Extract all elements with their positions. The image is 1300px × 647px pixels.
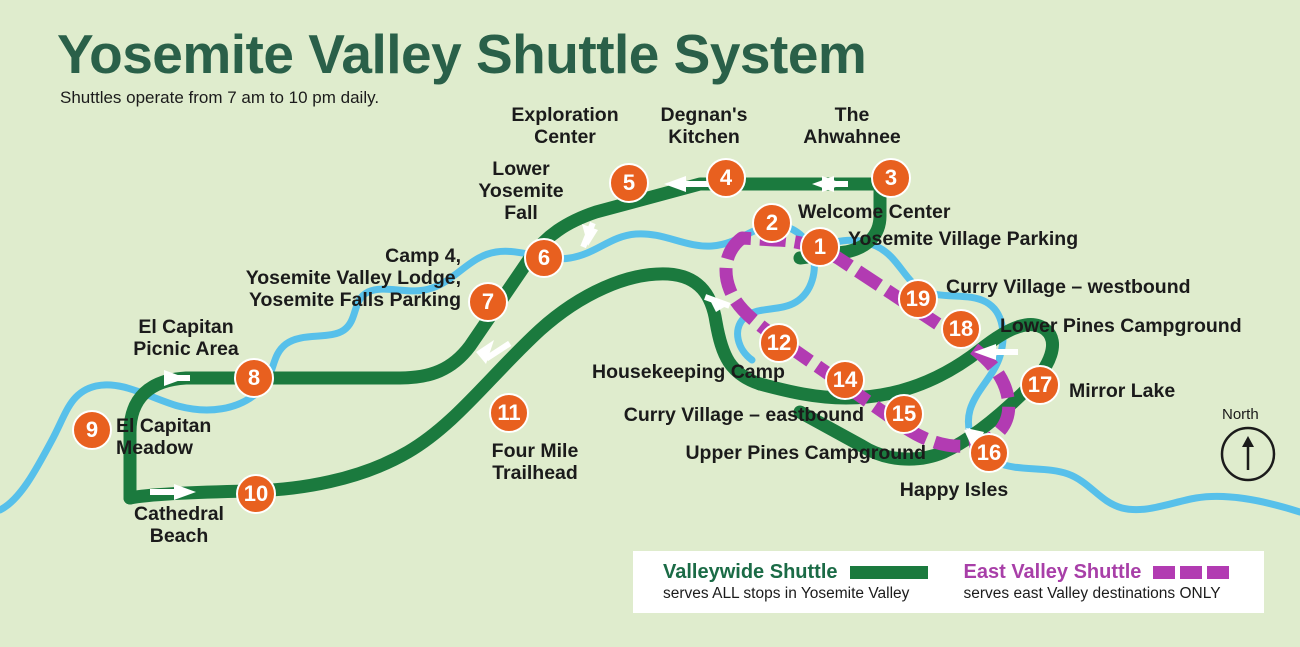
- stop-label-3: The Ahwahnee: [790, 105, 914, 149]
- stop-label-19: Curry Village – westbound: [946, 277, 1191, 299]
- stop-marker-12[interactable]: 12: [759, 323, 799, 363]
- stop-marker-3[interactable]: 3: [871, 158, 911, 198]
- stop-marker-2[interactable]: 2: [752, 203, 792, 243]
- map-legend: Valleywide Shuttle serves ALL stops in Y…: [633, 551, 1264, 613]
- stop-label-18: Lower Pines Campground: [1000, 316, 1242, 338]
- legend-east-valley-swatch: [1153, 566, 1229, 579]
- stop-marker-14[interactable]: 14: [825, 360, 865, 400]
- stop-label-8: El Capitan Picnic Area: [106, 317, 266, 361]
- stop-marker-16[interactable]: 16: [969, 433, 1009, 473]
- stop-label-17: Mirror Lake: [1069, 381, 1175, 403]
- stop-marker-9[interactable]: 9: [72, 410, 112, 450]
- stop-label-16: Happy Isles: [881, 480, 1027, 502]
- legend-valleywide-subtitle: serves ALL stops in Yosemite Valley: [663, 585, 928, 603]
- stop-marker-6[interactable]: 6: [524, 238, 564, 278]
- stop-label-14: Curry Village – eastbound: [588, 405, 864, 427]
- compass-label: North: [1222, 406, 1259, 423]
- legend-valleywide: Valleywide Shuttle serves ALL stops in Y…: [663, 561, 928, 603]
- stop-marker-17[interactable]: 17: [1020, 365, 1060, 405]
- stop-marker-11[interactable]: 11: [489, 393, 529, 433]
- stop-label-9: El Capitan Meadow: [116, 416, 211, 460]
- shuttle-map: Yosemite Valley Shuttle System Shuttles …: [0, 0, 1300, 647]
- stop-marker-5[interactable]: 5: [609, 163, 649, 203]
- stop-label-6: Lower Yosemite Fall: [462, 159, 580, 224]
- stop-label-4: Degnan's Kitchen: [645, 105, 763, 149]
- legend-valleywide-swatch: [850, 566, 928, 579]
- stop-label-10: Cathedral Beach: [114, 504, 244, 548]
- stop-marker-8[interactable]: 8: [234, 358, 274, 398]
- stop-label-7: Camp 4, Yosemite Valley Lodge, Yosemite …: [215, 246, 461, 311]
- legend-east-valley-subtitle: serves east Valley destinations ONLY: [964, 585, 1230, 603]
- page-title: Yosemite Valley Shuttle System: [57, 22, 866, 86]
- stop-marker-4[interactable]: 4: [706, 158, 746, 198]
- page-subtitle: Shuttles operate from 7 am to 10 pm dail…: [60, 88, 379, 108]
- north-arrow-icon: [1220, 426, 1276, 482]
- stop-marker-7[interactable]: 7: [468, 282, 508, 322]
- stop-label-5: Exploration Center: [495, 105, 635, 149]
- stop-label-15: Upper Pines Campground: [648, 443, 926, 465]
- legend-valleywide-title: Valleywide Shuttle: [663, 561, 838, 584]
- stop-marker-1[interactable]: 1: [800, 227, 840, 267]
- legend-east-valley: East Valley Shuttle serves east Valley d…: [964, 561, 1230, 603]
- stop-marker-19[interactable]: 19: [898, 279, 938, 319]
- stop-label-2: Welcome Center: [798, 202, 950, 224]
- stop-marker-18[interactable]: 18: [941, 309, 981, 349]
- stop-label-11: Four Mile Trailhead: [473, 441, 597, 485]
- stop-label-1: Yosemite Village Parking: [848, 229, 1078, 251]
- stop-marker-15[interactable]: 15: [884, 394, 924, 434]
- legend-east-valley-title: East Valley Shuttle: [964, 561, 1142, 584]
- stop-label-12: Housekeeping Camp: [592, 362, 785, 384]
